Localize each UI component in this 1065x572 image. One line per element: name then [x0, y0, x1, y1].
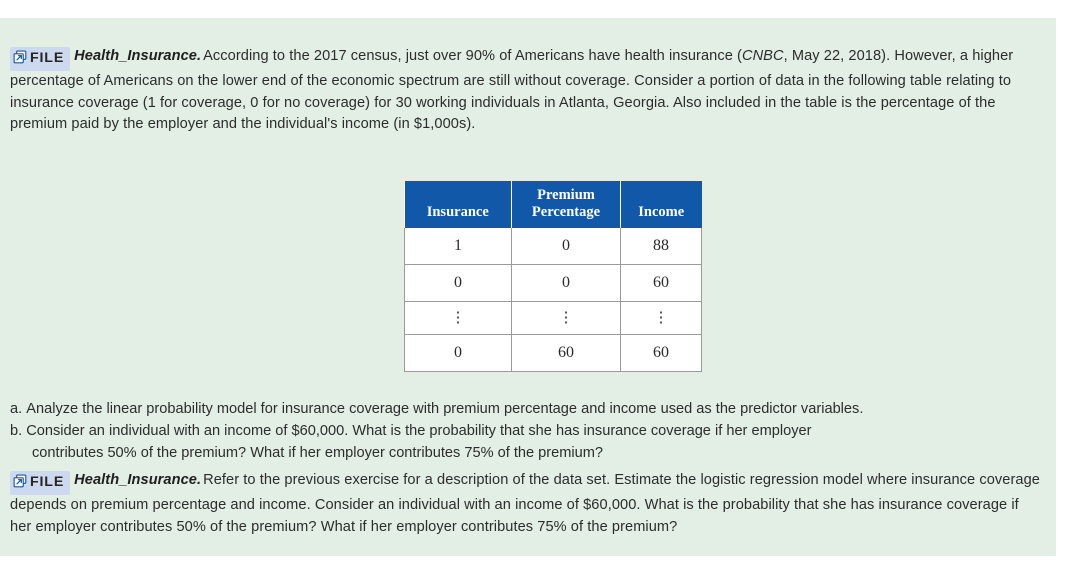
- source-citation-1: CNBC: [742, 48, 784, 64]
- file-badge-2[interactable]: FILE: [10, 471, 70, 495]
- cell-insurance: 0: [405, 335, 512, 372]
- page-root: FILEHealth_Insurance.According to the 20…: [0, 0, 1065, 572]
- pop-out-window-icon: [13, 474, 27, 488]
- cell-income: 88: [621, 228, 702, 265]
- question-list: a. Analyze the linear probability model …: [10, 399, 1050, 464]
- column-header-income: Income: [621, 181, 702, 228]
- column-header-insurance-line2: Insurance: [427, 204, 489, 220]
- table-row: 0 0 60: [405, 265, 702, 302]
- exercise-2-paragraph: FILEHealth_Insurance.Refer to the previo…: [10, 470, 1044, 538]
- table-row: 1 0 88: [405, 228, 702, 265]
- cell-insurance-ellipsis: ⋮: [405, 302, 512, 335]
- cell-income: 60: [621, 265, 702, 302]
- cell-income: 60: [621, 335, 702, 372]
- question-a-text: Analyze the linear probability model for…: [26, 401, 863, 417]
- exercise-1-text-part1: According to the 2017 census, just over …: [203, 48, 742, 64]
- cell-premium-percentage: 0: [512, 265, 621, 302]
- exercise-1-paragraph: FILEHealth_Insurance.According to the 20…: [10, 46, 1044, 136]
- data-table-wrapper: Insurance Premium Percentage Income: [404, 181, 702, 372]
- dataset-name-1: Health_Insurance.: [74, 48, 201, 64]
- question-a-label: a.: [10, 401, 22, 417]
- file-badge-1[interactable]: FILE: [10, 47, 70, 71]
- cell-income-ellipsis: ⋮: [621, 302, 702, 335]
- question-b-label: b.: [10, 423, 22, 439]
- cell-premium-percentage: 60: [512, 335, 621, 372]
- table-header-row: Insurance Premium Percentage Income: [405, 181, 702, 228]
- content-panel: FILEHealth_Insurance.According to the 20…: [0, 18, 1056, 556]
- dataset-name-2: Health_Insurance.: [74, 472, 201, 488]
- file-badge-label-2: FILE: [30, 474, 64, 490]
- cell-insurance: 0: [405, 265, 512, 302]
- table-row-ellipsis: ⋮ ⋮ ⋮: [405, 302, 702, 335]
- column-header-income-line2: Income: [638, 204, 684, 220]
- column-header-premium-line1: Premium: [537, 187, 595, 203]
- file-badge-label-1: FILE: [30, 50, 64, 66]
- column-header-premium-percentage: Premium Percentage: [512, 181, 621, 228]
- question-b-text-line2: contributes 50% of the premium? What if …: [24, 443, 1050, 465]
- column-header-insurance: Insurance: [405, 181, 512, 228]
- cell-premium-percentage-ellipsis: ⋮: [512, 302, 621, 335]
- cell-premium-percentage: 0: [512, 228, 621, 265]
- question-item-a: a. Analyze the linear probability model …: [10, 399, 1050, 421]
- question-b-text-line1: Consider an individual with an income of…: [26, 423, 811, 439]
- column-header-premium-line2: Percentage: [532, 204, 600, 220]
- pop-out-window-icon: [13, 50, 27, 64]
- question-item-b: b. Consider an individual with an income…: [10, 421, 1050, 465]
- cell-insurance: 1: [405, 228, 512, 265]
- table-body: 1 0 88 0 0 60 ⋮ ⋮ ⋮ 0: [405, 228, 702, 372]
- table-header: Insurance Premium Percentage Income: [405, 181, 702, 228]
- insurance-data-table: Insurance Premium Percentage Income: [404, 181, 702, 372]
- table-row: 0 60 60: [405, 335, 702, 372]
